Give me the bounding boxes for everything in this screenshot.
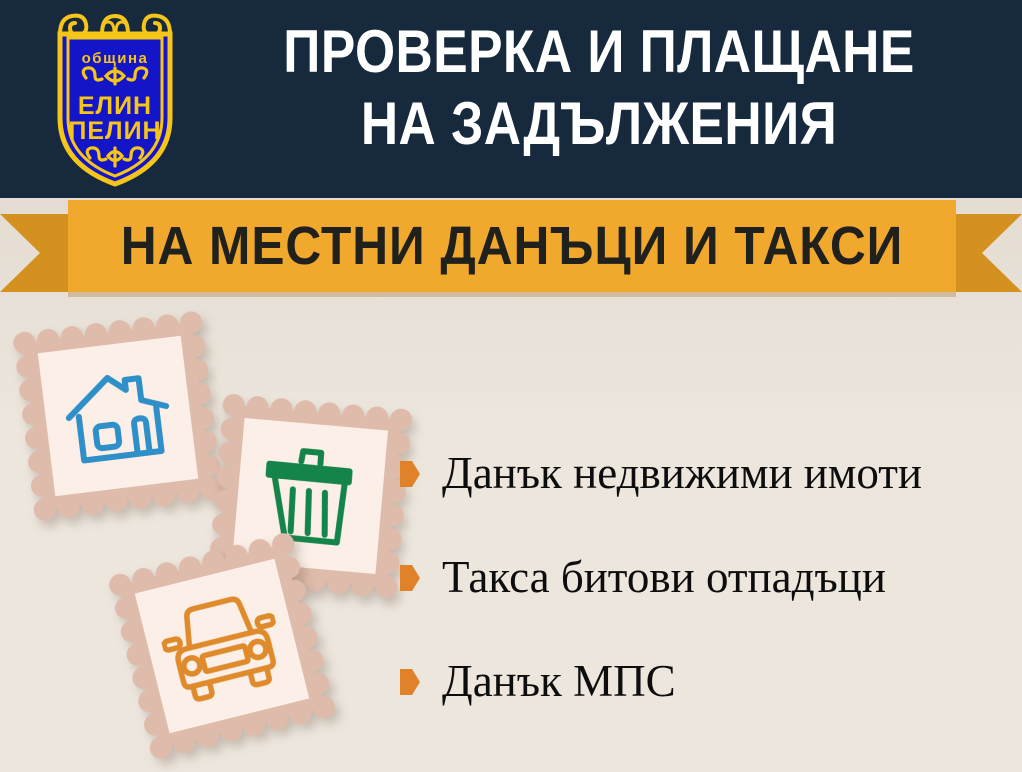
list-item-label: Такса битови отпадъци bbox=[442, 554, 886, 601]
svg-text:ЕЛИН: ЕЛИН bbox=[78, 92, 152, 120]
municipality-logo: община ЕЛИН ПЕЛИН bbox=[38, 8, 192, 190]
stamp-card-property bbox=[9, 307, 227, 525]
page-title: ПРОВЕРКА И ПЛАЩАНЕ НА ЗАДЪЛЖЕНИЯ bbox=[244, 16, 954, 160]
ribbon-body: НА МЕСТНИ ДАНЪЦИ И ТАКСИ bbox=[68, 200, 956, 292]
list-item[interactable]: Данък МПС bbox=[400, 630, 1012, 734]
arrow-bullet-icon bbox=[400, 461, 420, 487]
list-item-label: Данък недвижими имоти bbox=[442, 450, 922, 497]
house-icon bbox=[38, 336, 198, 496]
list-item-label: Данък МПС bbox=[442, 658, 676, 705]
arrow-bullet-icon bbox=[400, 565, 420, 591]
list-item[interactable]: Такса битови отпадъци bbox=[400, 526, 1012, 630]
list-item[interactable]: Данък недвижими имоти bbox=[400, 422, 1012, 526]
subtitle-ribbon: НА МЕСТНИ ДАНЪЦИ И ТАКСИ bbox=[0, 196, 1022, 300]
tax-type-list: Данък недвижими имоти Такса битови отпад… bbox=[400, 422, 1012, 734]
ribbon-label: НА МЕСТНИ ДАНЪЦИ И ТАКСИ bbox=[104, 200, 921, 292]
poster-canvas: ПРОВЕРКА И ПЛАЩАНЕ НА ЗАДЪЛЖЕНИЯ община bbox=[0, 0, 1022, 772]
arrow-bullet-icon bbox=[400, 669, 420, 695]
svg-text:ПЕЛИН: ПЕЛИН bbox=[68, 117, 161, 145]
svg-text:община: община bbox=[82, 50, 149, 67]
